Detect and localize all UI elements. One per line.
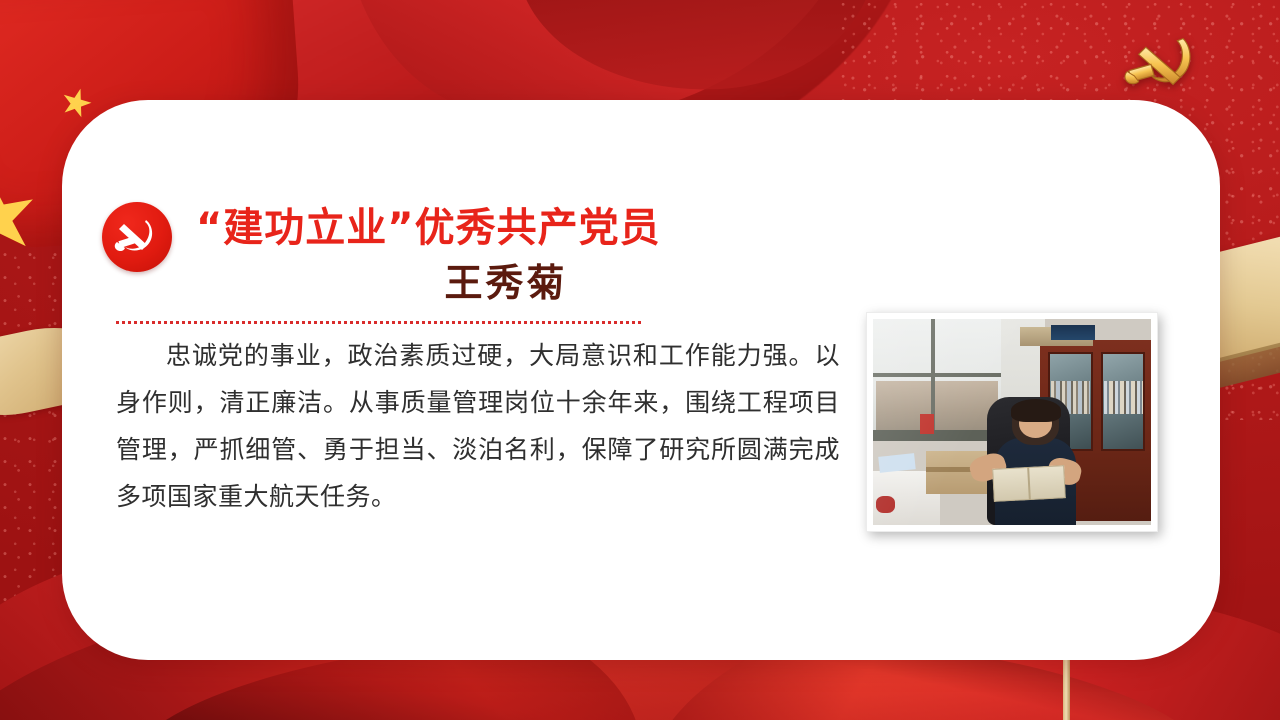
body-paragraph: 忠诚党的事业，政治素质过硬，大局意识和工作能力强。以身作则，清正廉洁。从事质量管… [116, 332, 840, 520]
photo-person-hair [1011, 399, 1061, 422]
slide-root: “建功立业”优秀共产党员 王秀菊 忠诚党的事业，政治素质过硬，大局意识和工作能力… [0, 0, 1280, 720]
party-emblem-badge-icon [102, 202, 172, 272]
photo-papers [878, 453, 916, 473]
dotted-divider [116, 320, 642, 324]
photo-floor-item [876, 496, 895, 512]
photo-window-mullion-h [873, 373, 1001, 377]
photo-open-book [992, 465, 1066, 502]
portrait-photo-frame [866, 312, 1158, 532]
photo-window-view [876, 381, 998, 430]
photo-blue-box [1051, 325, 1095, 339]
cpc-hammer-sickle-emblem-icon [1120, 30, 1206, 96]
portrait-photo [873, 319, 1151, 525]
photo-books-right [1104, 381, 1143, 414]
photo-red-item [920, 414, 934, 435]
page-title: “建功立业”优秀共产党员 [196, 206, 816, 251]
flag-star-1 [58, 85, 95, 122]
person-name: 王秀菊 [196, 262, 816, 304]
